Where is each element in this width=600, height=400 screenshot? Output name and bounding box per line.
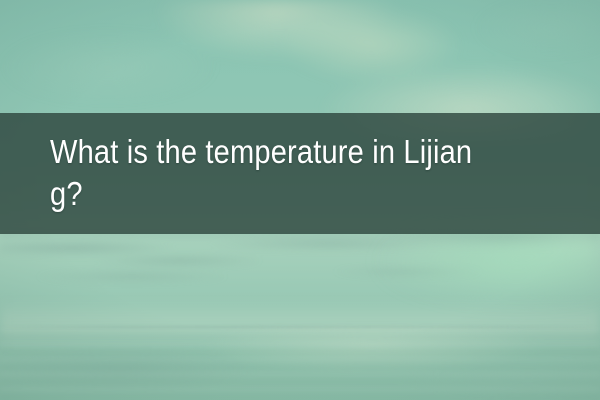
caption-band: What is the temperature in Lijiang? xyxy=(0,113,600,234)
water-layer xyxy=(0,326,600,400)
caption-question-text: What is the temperature in Lijiang? xyxy=(50,131,501,215)
screenshot-root: What is the temperature in Lijiang? xyxy=(0,0,600,400)
